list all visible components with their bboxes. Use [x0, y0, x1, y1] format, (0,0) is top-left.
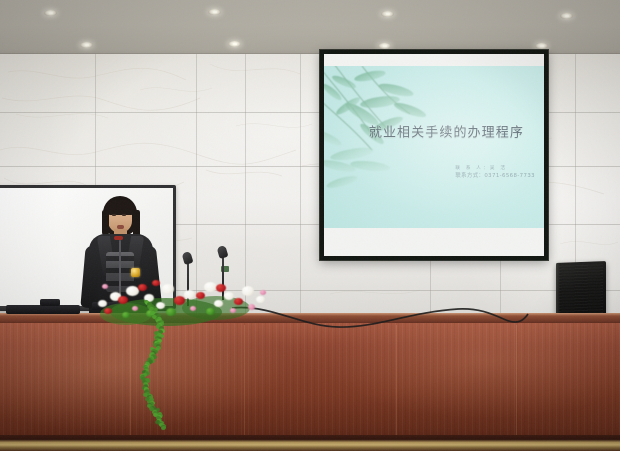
red-rose-15	[174, 296, 185, 305]
pink-blossom-26	[230, 308, 236, 313]
podium-gloss	[0, 323, 620, 451]
red-rose-13	[118, 296, 128, 304]
speaker-edge-highlight	[556, 263, 560, 319]
desk-cable	[230, 300, 530, 336]
white-flower-5	[184, 290, 195, 299]
loudspeaker-cabinet	[556, 261, 606, 319]
white-flower-8	[242, 286, 254, 296]
wall-seam-vertical-2	[196, 54, 197, 316]
flower-arrangement	[96, 278, 268, 326]
trailing-vine	[128, 300, 170, 428]
wall-seam-vertical-3	[245, 54, 246, 316]
presenter-eye-left	[112, 214, 116, 216]
ceiling-spotlight-2	[208, 9, 221, 15]
ceiling-spotlight-5	[80, 42, 93, 48]
projection-screen-surface: 就业相关手续的办理程序 联 系 人：吴 洁 联系方式：0371-6568-773…	[324, 54, 544, 256]
presentation-slide: 就业相关手续的办理程序 联 系 人：吴 洁 联系方式：0371-6568-773…	[324, 66, 544, 228]
presenter-eye-right	[122, 214, 126, 216]
slide-title: 就业相关手续的办理程序	[369, 121, 524, 140]
ceiling-spotlight-4	[560, 13, 573, 19]
ceiling-spotlight-1	[44, 10, 57, 16]
podium-seam-2	[244, 325, 245, 437]
wall-seam-vertical-4	[300, 54, 301, 316]
presenter-badge	[131, 268, 140, 277]
red-rose-17	[216, 284, 226, 292]
presenter-hair-side-left	[102, 210, 109, 236]
speaker-grille	[559, 264, 603, 316]
microphone-left-head	[182, 251, 194, 265]
dark-object-left-2	[40, 299, 60, 306]
podium-base-trim	[0, 435, 620, 451]
podium-seam-3	[396, 325, 397, 437]
ceiling-spotlight-7	[378, 43, 391, 49]
ceiling	[0, 0, 620, 56]
presenter-collar-accent	[114, 236, 123, 240]
slide-contact-phone: 联系方式：0371-6568-7733	[455, 173, 535, 181]
ceiling-spotlight-3	[381, 11, 394, 17]
pink-blossom-25	[190, 306, 196, 311]
white-flower-7	[224, 292, 234, 300]
dark-object-left	[6, 305, 80, 314]
presenter-hair-front	[105, 200, 135, 215]
projection-screen: 就业相关手续的办理程序 联 系 人：吴 洁 联系方式：0371-6568-773…	[320, 50, 548, 260]
podium-seam-4	[516, 325, 517, 437]
ceiling-spotlight-8	[535, 43, 548, 49]
microphone-right-head	[217, 245, 229, 259]
slide-contact-block: 联 系 人：吴 洁 联系方式：0371-6568-7733	[455, 166, 535, 180]
podium-front-panel	[0, 323, 620, 451]
pink-blossom-22	[260, 290, 266, 295]
pink-blossom-21	[248, 304, 255, 310]
ceiling-spotlight-6	[228, 41, 241, 47]
conference-hall-photo: 就业相关手续的办理程序 联 系 人：吴 洁 联系方式：0371-6568-773…	[0, 0, 620, 451]
pink-blossom-23	[102, 284, 108, 289]
white-flower-4	[162, 284, 174, 294]
